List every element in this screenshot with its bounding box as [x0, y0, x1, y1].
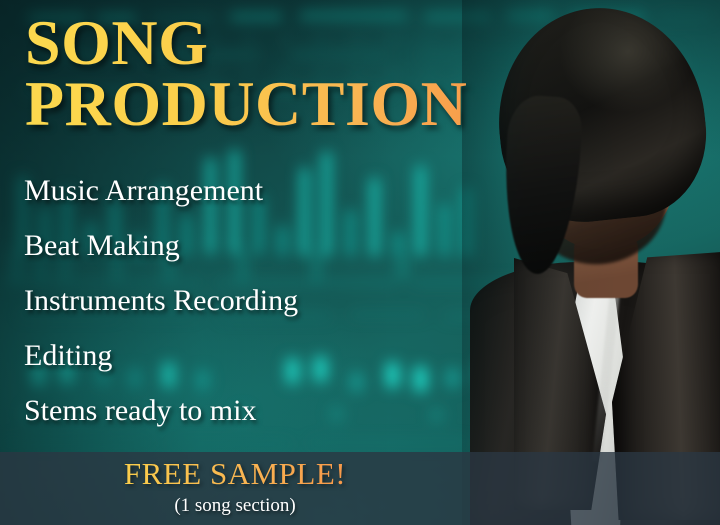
- list-item: Beat Making: [24, 231, 444, 261]
- list-item: Stems ready to mix: [24, 396, 444, 426]
- services-list: Music Arrangement Beat Making Instrument…: [24, 176, 444, 451]
- producer-portrait: [462, 0, 720, 525]
- song-production-promo-poster: SONG PRODUCTION Music Arrangement Beat M…: [0, 0, 720, 525]
- free-sample-banner-bar: [0, 452, 720, 525]
- list-item: Editing: [24, 341, 444, 371]
- portrait-edge-shading: [462, 0, 720, 525]
- list-item: Music Arrangement: [24, 176, 444, 206]
- list-item: Instruments Recording: [24, 286, 444, 316]
